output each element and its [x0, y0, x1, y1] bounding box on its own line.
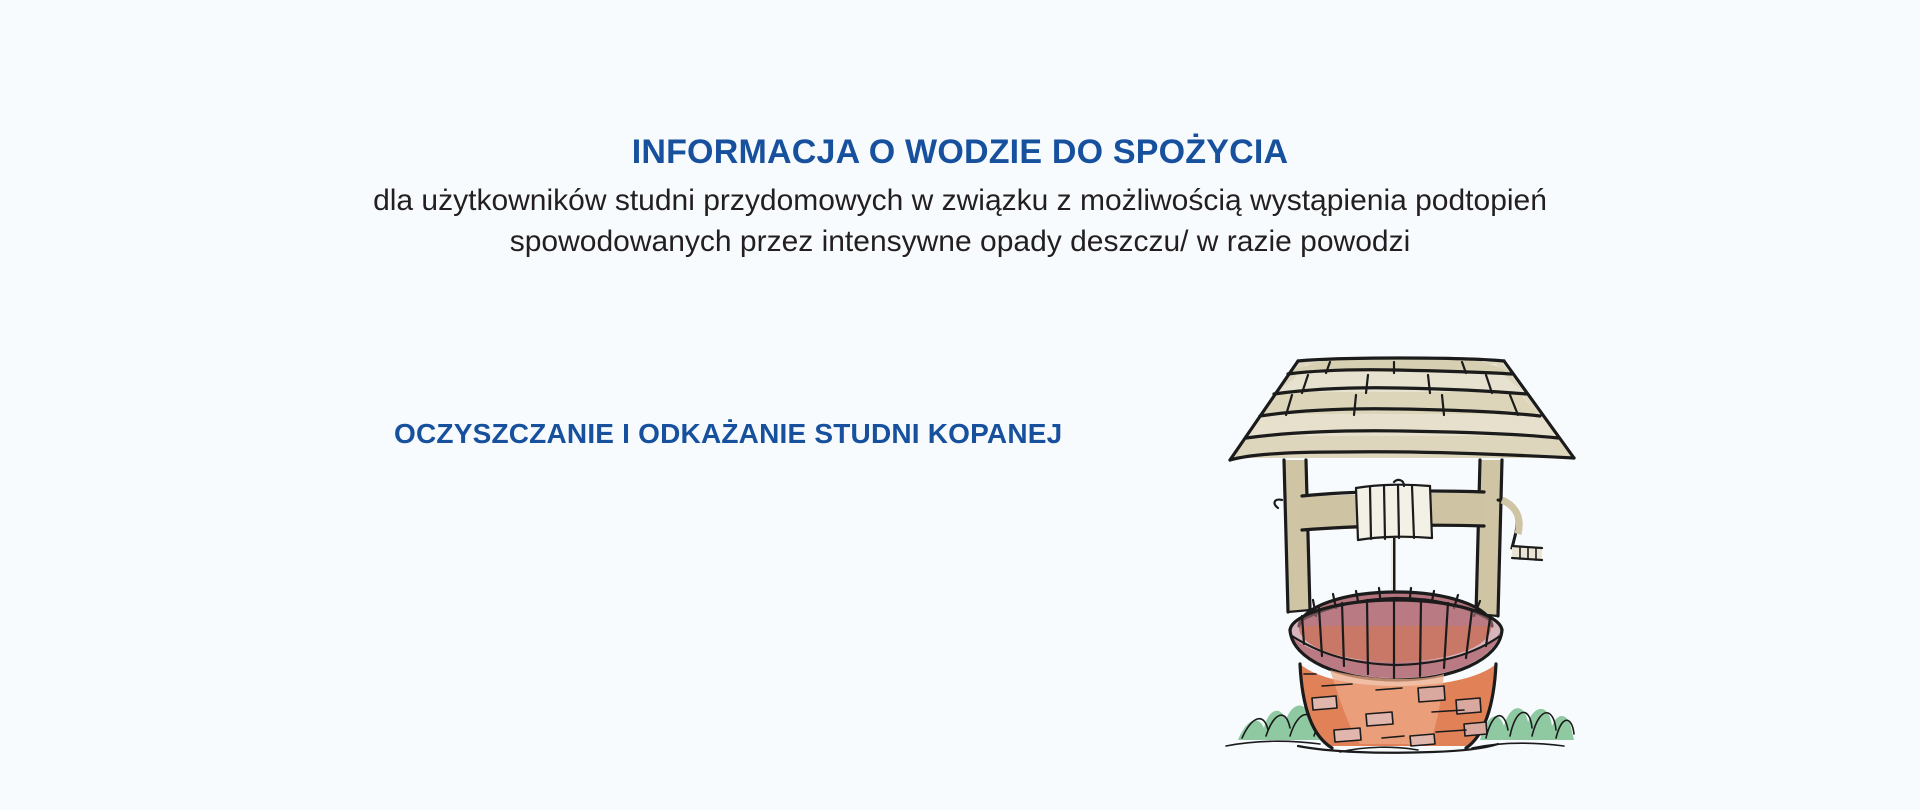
- page-title: INFORMACJA O WODZIE DO SPOŻYCIA: [0, 132, 1920, 172]
- well-post-right: [1476, 460, 1502, 616]
- subtitle-line-2: spowodowanych przez intensywne opady des…: [0, 221, 1920, 262]
- well-post-left: [1275, 460, 1310, 612]
- well-rim: [1290, 598, 1502, 680]
- page-subtitle: dla użytkowników studni przydomowych w z…: [0, 180, 1920, 262]
- subtitle-line-1: dla użytkowników studni przydomowych w z…: [0, 180, 1920, 221]
- dug-well-illustration: .ink { fill:none; stroke:#1b1b1b; stroke…: [1180, 348, 1620, 778]
- winch-crank-handle: [1498, 500, 1542, 560]
- rope-drum: [1356, 480, 1432, 540]
- well-winch-beam: [1302, 480, 1484, 540]
- dug-well-drawing: .ink { fill:none; stroke:#1b1b1b; stroke…: [1180, 348, 1620, 778]
- section-heading: OCZYSZCZANIE I ODKAŻANIE STUDNI KOPANEJ: [394, 418, 1062, 450]
- header-block: INFORMACJA O WODZIE DO SPOŻYCIA dla użyt…: [0, 132, 1920, 262]
- poster-page: INFORMACJA O WODZIE DO SPOŻYCIA dla użyt…: [0, 0, 1920, 810]
- well-roof: [1230, 358, 1574, 460]
